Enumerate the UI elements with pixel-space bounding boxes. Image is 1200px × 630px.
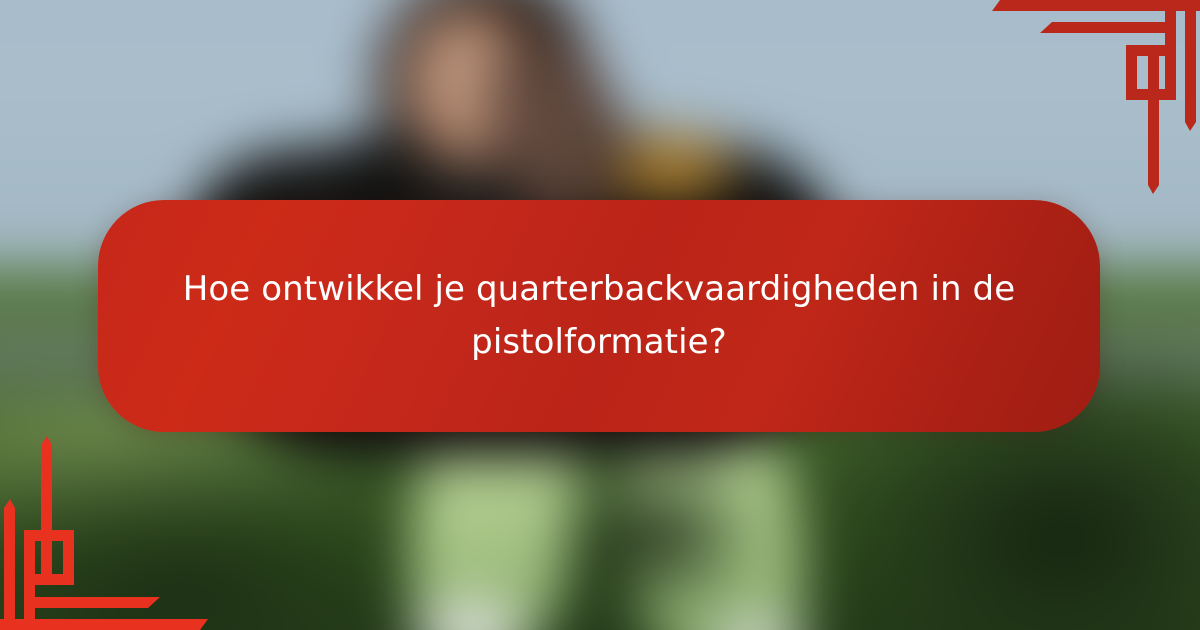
person-leg-shadow — [546, 457, 764, 615]
screenshot-canvas: Hoe ontwikkel je quarterbackvaardigheden… — [0, 0, 1200, 630]
quote-card-headline: Hoe ontwikkel je quarterbackvaardigheden… — [168, 263, 1030, 368]
quote-card: Hoe ontwikkel je quarterbackvaardigheden… — [98, 200, 1100, 432]
